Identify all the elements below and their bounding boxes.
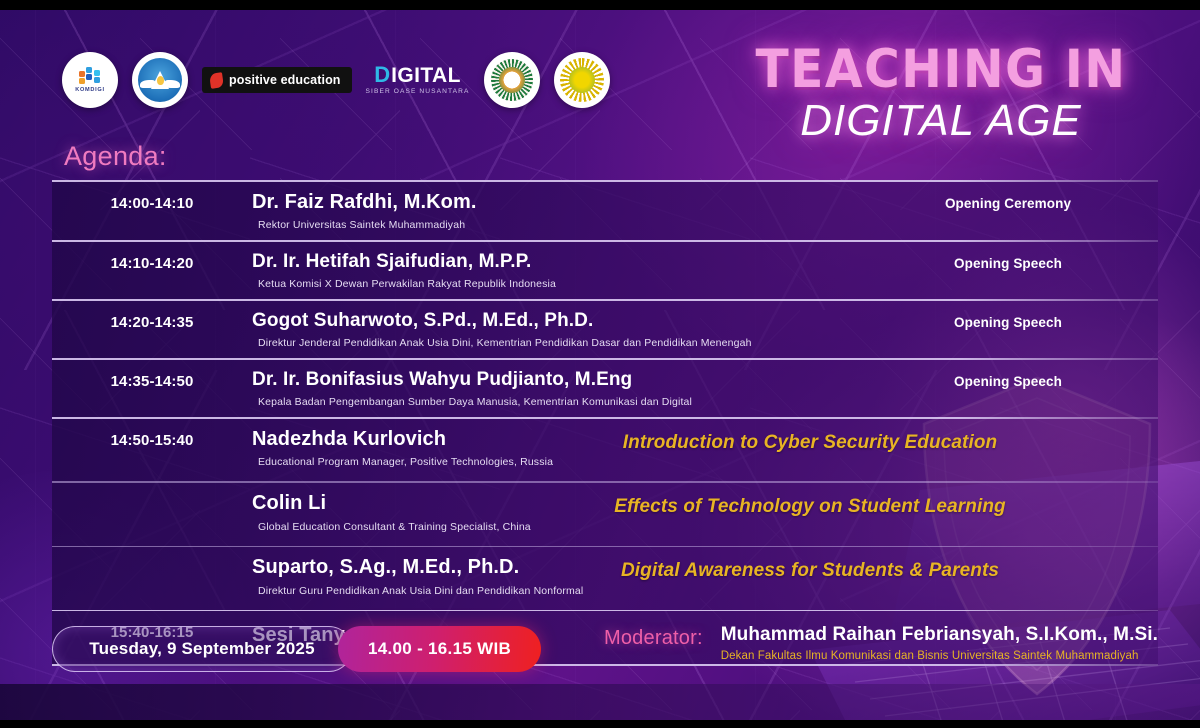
agenda-row-time xyxy=(52,547,252,560)
agenda-row: 14:20-14:35Gogot Suharwoto, S.Pd., M.Ed.… xyxy=(52,301,1158,358)
moderator-block: Moderator: Muhammad Raihan Febriansyah, … xyxy=(604,623,1158,662)
agenda-row-session-type: Opening Ceremony xyxy=(858,182,1158,211)
agenda-row-session-type: Opening Speech xyxy=(858,242,1158,271)
tut-wuri-handayani-logo xyxy=(132,52,188,108)
agenda-row-main: Dr. Ir. Hetifah Sjaifudian, M.P.P.Ketua … xyxy=(252,242,858,299)
komdigi-label: KOMDIGI xyxy=(75,87,104,93)
agenda-row: Colin LiGlobal Education Consultant & Tr… xyxy=(52,483,1158,546)
positive-education-logo: positive education xyxy=(202,67,352,93)
title-sub-line: DIGITAL AGE xyxy=(726,98,1156,144)
agenda-row-main: Dr. Faiz Rafdhi, M.Kom.Rektor Universita… xyxy=(252,182,858,241)
agenda-row-time: 14:00-14:10 xyxy=(52,182,252,212)
agenda-row-time: 14:50-15:40 xyxy=(52,419,252,449)
partner-logos: KOMDIGI positive education D IGITAL SIBE… xyxy=(62,52,610,108)
moderator-label: Moderator: xyxy=(604,623,703,650)
agenda-row-time: 14:10-14:20 xyxy=(52,242,252,272)
digital-tagline: SIBER OASE NUSANTARA xyxy=(366,89,470,96)
agenda-row-speaker-title: Direktur Guru Pendidikan Anak Usia Dini … xyxy=(252,585,1158,597)
agenda-row-speaker-name: Dr. Ir. Bonifasius Wahyu Pudjianto, M.En… xyxy=(252,369,858,391)
bottom-gradient-band xyxy=(0,684,1200,720)
green-emblem-icon xyxy=(491,59,533,101)
title-main-line: TEACHING IN xyxy=(743,44,1139,96)
event-date-pill: Tuesday, 9 September 2025 xyxy=(52,626,352,672)
tut-wuri-emblem-icon xyxy=(138,58,182,102)
agenda-row: 14:10-14:20Dr. Ir. Hetifah Sjaifudian, M… xyxy=(52,242,1158,299)
agenda-row-time: 14:20-14:35 xyxy=(52,301,252,331)
agenda-row: Suparto, S.Ag., M.Ed., Ph.D.Direktur Gur… xyxy=(52,547,1158,610)
agenda-table: 14:00-14:10Dr. Faiz Rafdhi, M.Kom.Rektor… xyxy=(52,180,1158,666)
event-datetime: Tuesday, 9 September 2025 14.00 - 16.15 … xyxy=(52,626,541,672)
komdigi-logo: KOMDIGI xyxy=(62,52,118,108)
agenda-row-topic: Digital Awareness for Students & Parents xyxy=(462,560,1158,582)
agenda-row-time xyxy=(52,483,252,496)
positive-education-label: positive education xyxy=(229,73,341,87)
agenda-row-time: 14:35-14:50 xyxy=(52,360,252,390)
agenda-row-speaker-title: Educational Program Manager, Positive Te… xyxy=(252,456,1158,468)
agenda-heading: Agenda: xyxy=(64,141,167,172)
agenda-row-speaker-title: Global Education Consultant & Training S… xyxy=(252,521,1158,533)
agenda-row-speaker-name: Dr. Ir. Hetifah Sjaifudian, M.P.P. xyxy=(252,251,858,273)
moderator-name: Muhammad Raihan Febriansyah, S.I.Kom., M… xyxy=(721,623,1158,647)
digital-word: IGITAL xyxy=(391,65,461,86)
digital-siber-oase-nusantara-logo: D IGITAL SIBER OASE NUSANTARA xyxy=(366,64,470,96)
agenda-row-speaker-name: Dr. Faiz Rafdhi, M.Kom. xyxy=(252,191,858,215)
komdigi-dots-icon xyxy=(77,67,103,85)
agenda-row-topic: Introduction to Cyber Security Education xyxy=(462,432,1158,454)
agenda-row: 14:00-14:10Dr. Faiz Rafdhi, M.Kom.Rektor… xyxy=(52,182,1158,241)
yellow-emblem-icon xyxy=(560,58,604,102)
moderator-subtitle: Dekan Fakultas Ilmu Komunikasi dan Bisni… xyxy=(721,650,1158,662)
poster-canvas: KOMDIGI positive education D IGITAL SIBE… xyxy=(0,0,1200,728)
agenda-row-speaker-title: Direktur Jenderal Pendidikan Anak Usia D… xyxy=(252,337,858,349)
agenda-row-session-type: Opening Speech xyxy=(858,301,1158,330)
poster-background: KOMDIGI positive education D IGITAL SIBE… xyxy=(0,10,1200,720)
agenda-row-speaker-title: Kepala Badan Pengembangan Sumber Daya Ma… xyxy=(252,396,858,408)
agenda-row-speaker-title: Rektor Universitas Saintek Muhammadiyah xyxy=(252,219,858,231)
event-time-pill: 14.00 - 16.15 WIB xyxy=(338,626,541,672)
agenda-row-main: Dr. Ir. Bonifasius Wahyu Pudjianto, M.En… xyxy=(252,360,858,417)
agenda-row: 14:50-15:40Nadezhda KurlovichEducational… xyxy=(52,419,1158,482)
agenda-row-speaker-title: Ketua Komisi X Dewan Perwakilan Rakyat R… xyxy=(252,278,858,290)
green-emblem-logo xyxy=(484,52,540,108)
agenda-row-main: Gogot Suharwoto, S.Pd., M.Ed., Ph.D.Dire… xyxy=(252,301,858,358)
digital-d-letter: D xyxy=(374,64,389,86)
poster-title: TEACHING IN DIGITAL AGE xyxy=(726,44,1156,144)
yellow-emblem-logo xyxy=(554,52,610,108)
agenda-row-session-type: Opening Speech xyxy=(858,360,1158,389)
agenda-row: 14:35-14:50Dr. Ir. Bonifasius Wahyu Pudj… xyxy=(52,360,1158,417)
positive-education-mark-icon xyxy=(209,72,224,89)
agenda-row-speaker-name: Gogot Suharwoto, S.Pd., M.Ed., Ph.D. xyxy=(252,310,858,332)
agenda-row-topic: Effects of Technology on Student Learnin… xyxy=(462,496,1158,518)
